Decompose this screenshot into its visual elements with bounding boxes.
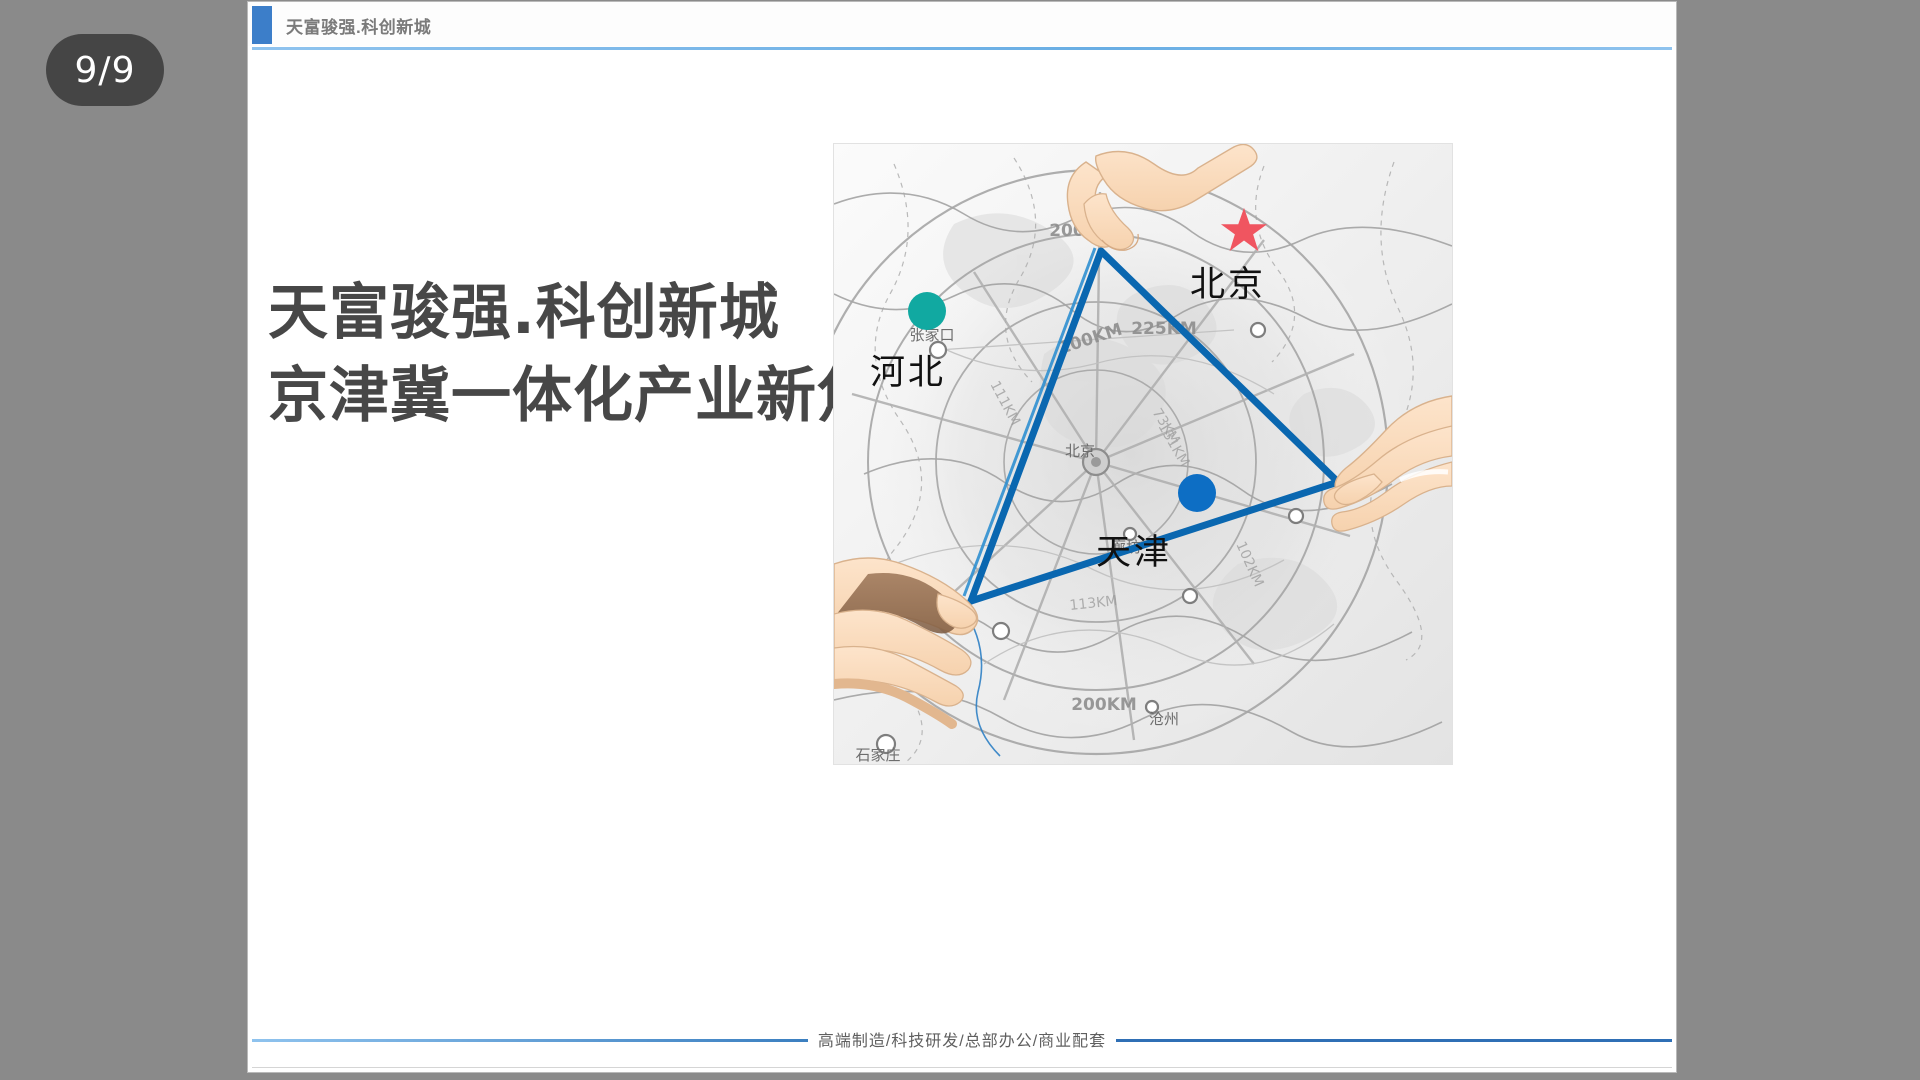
region-map-image: 张家口 北京 廊坊 沧州 石家庄 200KM 100KM 200KM 225KM… (834, 144, 1452, 764)
beijing-star-icon (1220, 206, 1268, 254)
footer-rule-right (1116, 1039, 1672, 1042)
region-map-graphic: 张家口 北京 廊坊 沧州 石家庄 200KM 100KM 200KM 225KM… (834, 144, 1452, 764)
slide-footer: 高端制造/科技研发/总部办公/商业配套 (248, 1028, 1676, 1058)
page-indicator-badge: 9/9 (46, 34, 164, 106)
svg-text:石家庄: 石家庄 (855, 746, 900, 764)
svg-text:沧州: 沧州 (1149, 710, 1179, 728)
tianjin-marker-dot (1178, 474, 1216, 512)
header-title: 天富骏强.科创新城 (286, 13, 431, 38)
slide-canvas: 天富骏强.科创新城 天富骏强.科创新城 京津冀一体化产业新焦点 (248, 2, 1676, 1072)
page-indicator-label: 9/9 (75, 50, 136, 91)
header-divider (252, 47, 1672, 50)
footer-rule-left (252, 1039, 808, 1042)
header-marker-icon (252, 6, 272, 44)
slide-header: 天富骏强.科创新城 (248, 2, 1676, 46)
slide-bottom-edge (252, 1067, 1672, 1068)
svg-text:200KM: 200KM (1071, 695, 1137, 715)
map-label-tianjin: 天津 (1096, 524, 1172, 575)
svg-text:北京: 北京 (1065, 442, 1095, 460)
map-label-beijing: 北京 (1190, 256, 1266, 307)
slide-viewer: 9/9 天富骏强.科创新城 天富骏强.科创新城 京津冀一体化产业新焦点 (0, 0, 1920, 1080)
footer-text: 高端制造/科技研发/总部办公/商业配套 (808, 1027, 1116, 1051)
hebei-marker-dot (908, 292, 946, 330)
map-label-hebei: 河北 (870, 344, 946, 395)
